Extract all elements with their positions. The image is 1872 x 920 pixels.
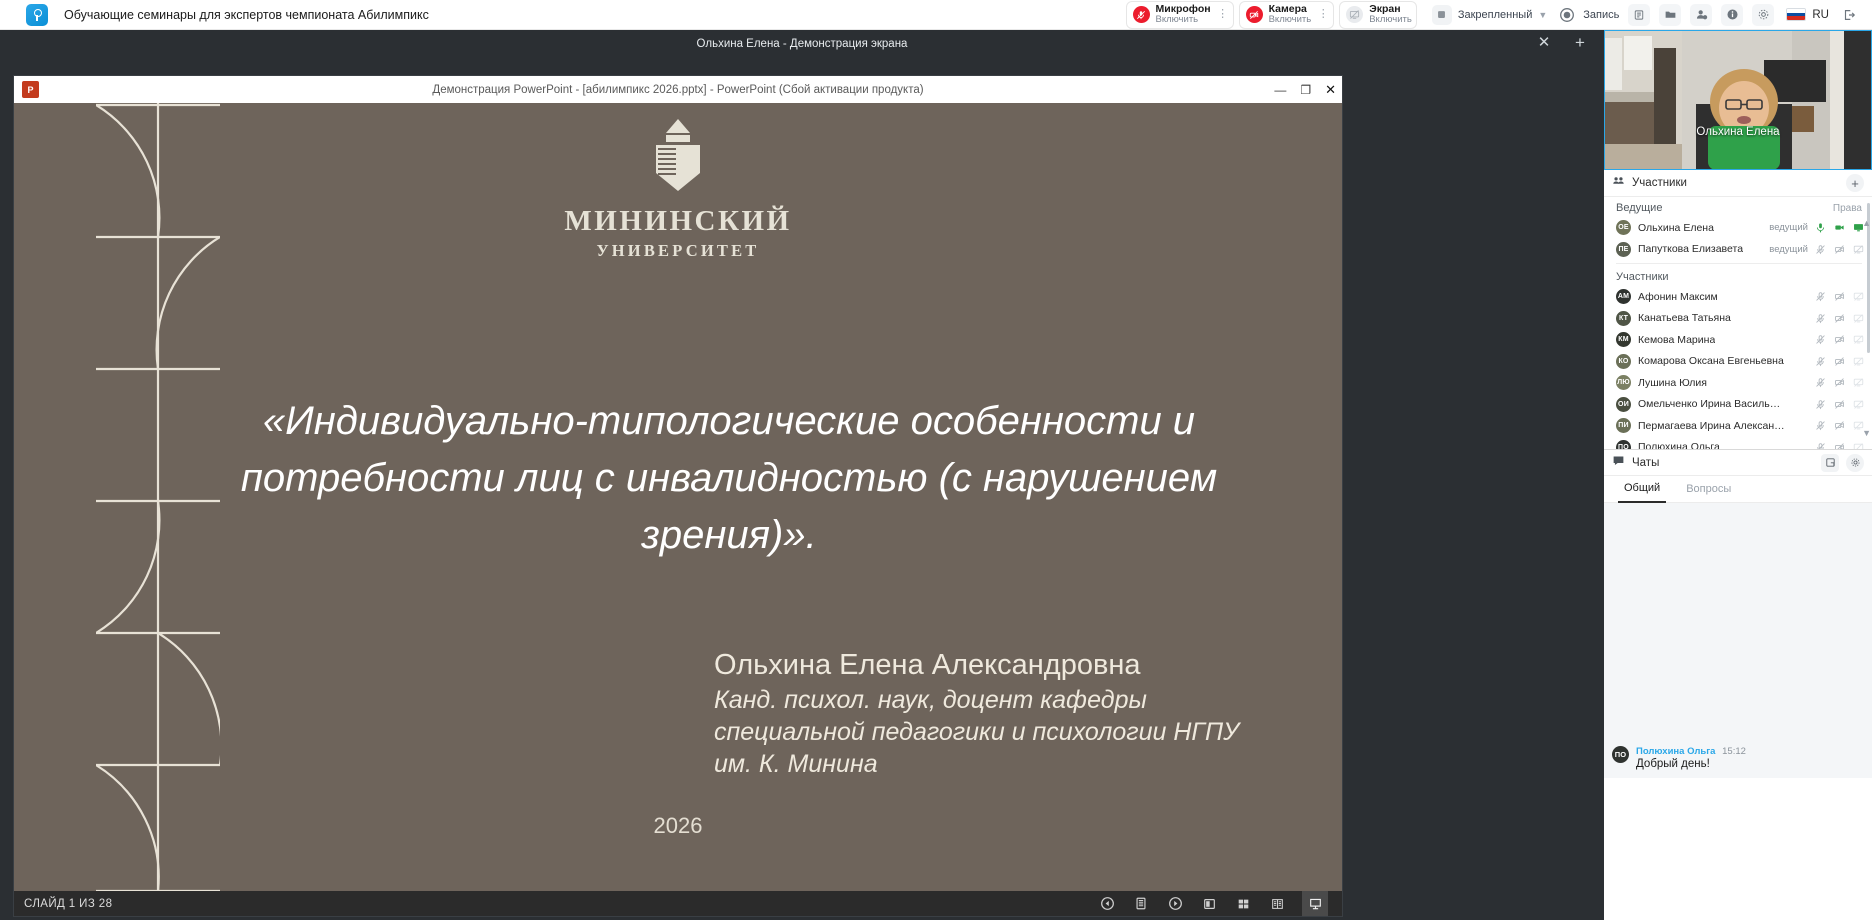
list-item[interactable]: КО Комарова Оксана Евгеньевна — [1604, 351, 1872, 373]
info-icon[interactable] — [1721, 4, 1743, 26]
chat-message: ПО Полюхина Ольга 15:12 Добрый день! — [1612, 746, 1864, 770]
list-item[interactable]: КТ Канатьева Татьяна — [1604, 308, 1872, 330]
stage-title: Ольхина Елена - Демонстрация экрана — [697, 38, 908, 50]
participant-name: Афонин Максим — [1638, 291, 1718, 303]
avatar: ПИ — [1616, 418, 1631, 433]
participant-name: Ольхина Елена — [1638, 222, 1714, 234]
list-item[interactable]: ПЕ Папуткова Елизавета ведущий — [1604, 239, 1872, 261]
avatar: ОИ — [1616, 397, 1631, 412]
camera-off-icon[interactable] — [1834, 377, 1845, 388]
screen-off-icon[interactable] — [1853, 356, 1864, 367]
list-item[interactable]: КМ Кемова Марина — [1604, 329, 1872, 351]
grid-view-icon[interactable] — [1234, 896, 1252, 912]
slide-author-block: Ольхина Елена Александровна Канд. психол… — [714, 648, 1254, 780]
role-badge: ведущий — [1769, 222, 1808, 233]
microphone-off-icon[interactable] — [1815, 291, 1826, 302]
camera-off-icon[interactable] — [1834, 442, 1845, 449]
screen-off-icon[interactable] — [1853, 334, 1864, 345]
camera-button[interactable]: Камера Включить ⋮ — [1239, 1, 1335, 29]
next-slide-icon[interactable] — [1166, 896, 1184, 912]
list-item[interactable]: ПО Полюхина Ольга — [1604, 437, 1872, 450]
camera-off-icon[interactable] — [1834, 356, 1845, 367]
meeting-title: Обучающие семинары для экспертов чемпион… — [64, 8, 429, 22]
stage-header: Ольхина Елена - Демонстрация экрана ✕ + — [0, 30, 1604, 58]
avatar: АМ — [1616, 289, 1631, 304]
group-header-participants: Участники — [1604, 266, 1872, 286]
video-feed — [1604, 30, 1872, 170]
presenter-video-tile[interactable]: Ольхина Елена — [1604, 30, 1872, 170]
microphone-off-icon — [1133, 6, 1150, 23]
slide-title: «Индивидуально-типологические особенност… — [224, 393, 1234, 563]
microphone-off-icon[interactable] — [1815, 399, 1826, 410]
screen-off-icon[interactable] — [1853, 399, 1864, 410]
microphone-off-icon[interactable] — [1815, 313, 1826, 324]
chat-title: Чаты — [1632, 457, 1659, 469]
plus-icon[interactable]: + — [1572, 35, 1588, 51]
avatar: КО — [1616, 354, 1631, 369]
reading-view-icon[interactable] — [1268, 896, 1286, 912]
gear-icon[interactable] — [1752, 4, 1774, 26]
avatar: ПЕ — [1616, 242, 1631, 257]
layout-selector[interactable]: Закрепленный ▼ — [1432, 4, 1547, 26]
slide-layout-icon[interactable] — [1200, 896, 1218, 912]
maximize-icon[interactable]: ❐ — [1300, 84, 1311, 96]
user-add-icon[interactable] — [1690, 4, 1712, 26]
presentation-slide[interactable]: МИНИНСКИЙ УНИВЕРСИТЕТ «Индивидуально-тип… — [14, 103, 1342, 893]
microphone-on-icon[interactable] — [1815, 222, 1826, 233]
microphone-menu-icon[interactable]: ⋮ — [1217, 9, 1229, 20]
university-logo: МИНИНСКИЙ УНИВЕРСИТЕТ — [14, 117, 1342, 261]
slide-year: 2026 — [14, 813, 1342, 839]
microphone-off-icon[interactable] — [1815, 420, 1826, 431]
screen-off-icon[interactable] — [1853, 442, 1864, 449]
record-icon — [1557, 5, 1577, 25]
mininsky-shield-logo — [650, 117, 706, 195]
screen-sublabel: Включить — [1369, 15, 1412, 25]
list-item[interactable]: ОЕ Ольхина Елена ведущий — [1604, 217, 1872, 239]
tab-general[interactable]: Общий — [1618, 476, 1666, 503]
powerpoint-icon: P — [22, 81, 39, 98]
presenter-view-icon[interactable] — [1302, 891, 1328, 916]
divider — [1616, 263, 1862, 264]
close-icon[interactable]: ✕ — [1536, 36, 1552, 52]
participants-title: Участники — [1632, 177, 1687, 189]
camera-off-icon — [1246, 6, 1263, 23]
participant-name: Пермагаева Ирина Александро... — [1638, 420, 1786, 432]
participant-name: Папуткова Елизавета — [1638, 243, 1743, 255]
screen-share-button[interactable]: Экран Включить — [1339, 1, 1417, 29]
layout-icon — [1432, 5, 1452, 25]
add-participant-icon[interactable]: + — [1846, 174, 1864, 192]
location-pin-icon — [26, 4, 48, 26]
logo-subtitle: УНИВЕРСИТЕТ — [596, 241, 759, 261]
screen-off-icon[interactable] — [1853, 313, 1864, 324]
group-title: Участники — [1616, 271, 1669, 283]
author-role: Канд. психол. наук, доцент кафедры специ… — [714, 684, 1254, 780]
camera-sublabel: Включить — [1269, 15, 1312, 25]
message-text: Добрый день! — [1636, 758, 1746, 770]
participant-name: Комарова Оксана Евгеньевна — [1638, 355, 1784, 367]
group-title: Ведущие — [1616, 202, 1662, 214]
message-time: 15:12 — [1722, 746, 1746, 757]
av-controls: Микрофон Включить ⋮ Камера Включить ⋮ — [1126, 0, 1422, 30]
screen-share-icon — [1346, 6, 1363, 23]
author-name: Ольхина Елена Александровна — [714, 648, 1254, 682]
powerpoint-window: P Демонстрация PowerPoint - [абилимпикс … — [13, 75, 1343, 917]
russia-flag-icon — [1786, 8, 1806, 21]
language-label[interactable]: RU — [1812, 9, 1829, 21]
record-label: Запись — [1583, 9, 1619, 21]
camera-off-icon[interactable] — [1834, 313, 1845, 324]
chat-icon — [1612, 454, 1625, 472]
group-header-hosts: Ведущие Права — [1604, 197, 1872, 217]
screen-share-stage: Ольхина Елена - Демонстрация экрана ✕ + … — [0, 30, 1604, 920]
avatar: КМ — [1616, 332, 1631, 347]
microphone-off-icon[interactable] — [1815, 377, 1826, 388]
list-item[interactable]: ЛЮ Лушина Юлия — [1604, 372, 1872, 394]
participant-name: Канатьева Татьяна — [1638, 312, 1731, 324]
avatar: ЛЮ — [1616, 375, 1631, 390]
notes-icon[interactable] — [1628, 4, 1650, 26]
chevron-down-icon: ▼ — [1538, 10, 1547, 20]
top-app-bar: Обучающие семинары для экспертов чемпион… — [0, 0, 1872, 30]
camera-off-icon[interactable] — [1834, 291, 1845, 302]
scroll-down-icon[interactable]: ▼ — [1862, 429, 1871, 438]
screen-off-icon[interactable] — [1853, 291, 1864, 302]
participant-name: Лушина Юлия — [1638, 377, 1707, 389]
logo-name: МИНИНСКИЙ — [564, 205, 791, 238]
participant-name: Полюхина Ольга — [1638, 441, 1720, 449]
camera-off-icon[interactable] — [1834, 334, 1845, 345]
microphone-off-icon[interactable] — [1815, 334, 1826, 345]
gear-icon[interactable] — [1846, 454, 1864, 472]
microphone-button[interactable]: Микрофон Включить ⋮ — [1126, 1, 1234, 29]
avatar: ПО — [1612, 746, 1629, 763]
list-item[interactable]: ПИ Пермагаева Ирина Александро... — [1604, 415, 1872, 437]
exit-icon[interactable] — [1838, 4, 1860, 26]
popout-icon[interactable] — [1821, 454, 1839, 472]
list-item[interactable]: АМ Афонин Максим — [1604, 286, 1872, 308]
pen-icon[interactable] — [1132, 896, 1150, 912]
folder-icon[interactable] — [1659, 4, 1681, 26]
slide-counter: СЛАЙД 1 ИЗ 28 — [24, 898, 112, 910]
avatar: КТ — [1616, 311, 1631, 326]
role-badge: ведущий — [1769, 244, 1808, 255]
screen-off-icon[interactable] — [1853, 377, 1864, 388]
list-item[interactable]: ОИ Омельченко Ирина Васильевна — [1604, 394, 1872, 416]
participants-list[interactable]: Ведущие Права ОЕ Ольхина Елена ведущий П… — [1604, 197, 1872, 449]
close-window-icon[interactable]: ✕ — [1325, 83, 1336, 96]
tab-questions[interactable]: Вопросы — [1680, 476, 1737, 503]
slideshow-status-bar: СЛАЙД 1 ИЗ 28 — [14, 891, 1342, 916]
scroll-up-icon[interactable]: ▲ — [1862, 219, 1871, 228]
minimize-icon[interactable]: — — [1274, 84, 1286, 96]
right-sidebar: Ольхина Елена Участники + Ведущие Права … — [1604, 30, 1872, 920]
chat-tabs: Общий Вопросы — [1604, 476, 1872, 503]
previous-slide-icon[interactable] — [1098, 896, 1116, 912]
camera-on-icon[interactable] — [1834, 222, 1845, 233]
people-icon — [1612, 174, 1625, 192]
microphone-off-icon[interactable] — [1815, 356, 1826, 367]
participants-header: Участники + — [1604, 170, 1872, 197]
participant-name: Кемова Марина — [1638, 334, 1715, 346]
powerpoint-titlebar: P Демонстрация PowerPoint - [абилимпикс … — [14, 76, 1342, 103]
camera-off-icon[interactable] — [1834, 420, 1845, 431]
video-participant-label: Ольхина Елена — [1696, 126, 1779, 138]
chat-header: Чаты — [1604, 449, 1872, 476]
chat-messages[interactable]: ПО Полюхина Ольга 15:12 Добрый день! — [1604, 503, 1872, 778]
avatar: ПО — [1616, 440, 1631, 449]
camera-off-icon[interactable] — [1834, 399, 1845, 410]
rights-column-label: Права — [1833, 203, 1862, 214]
camera-off-icon[interactable] — [1834, 244, 1845, 255]
layout-label: Закрепленный — [1458, 9, 1533, 21]
microphone-off-icon[interactable] — [1815, 244, 1826, 255]
screen-off-icon[interactable] — [1853, 244, 1864, 255]
camera-menu-icon[interactable]: ⋮ — [1317, 9, 1329, 20]
participant-name: Омельченко Ирина Васильевна — [1638, 398, 1786, 410]
microphone-sublabel: Включить — [1156, 15, 1211, 25]
powerpoint-title: Демонстрация PowerPoint - [абилимпикс 20… — [14, 84, 1342, 96]
microphone-off-icon[interactable] — [1815, 442, 1826, 449]
avatar: ОЕ — [1616, 220, 1631, 235]
message-author: Полюхина Ольга — [1636, 746, 1715, 757]
record-button[interactable]: Запись — [1557, 4, 1619, 26]
